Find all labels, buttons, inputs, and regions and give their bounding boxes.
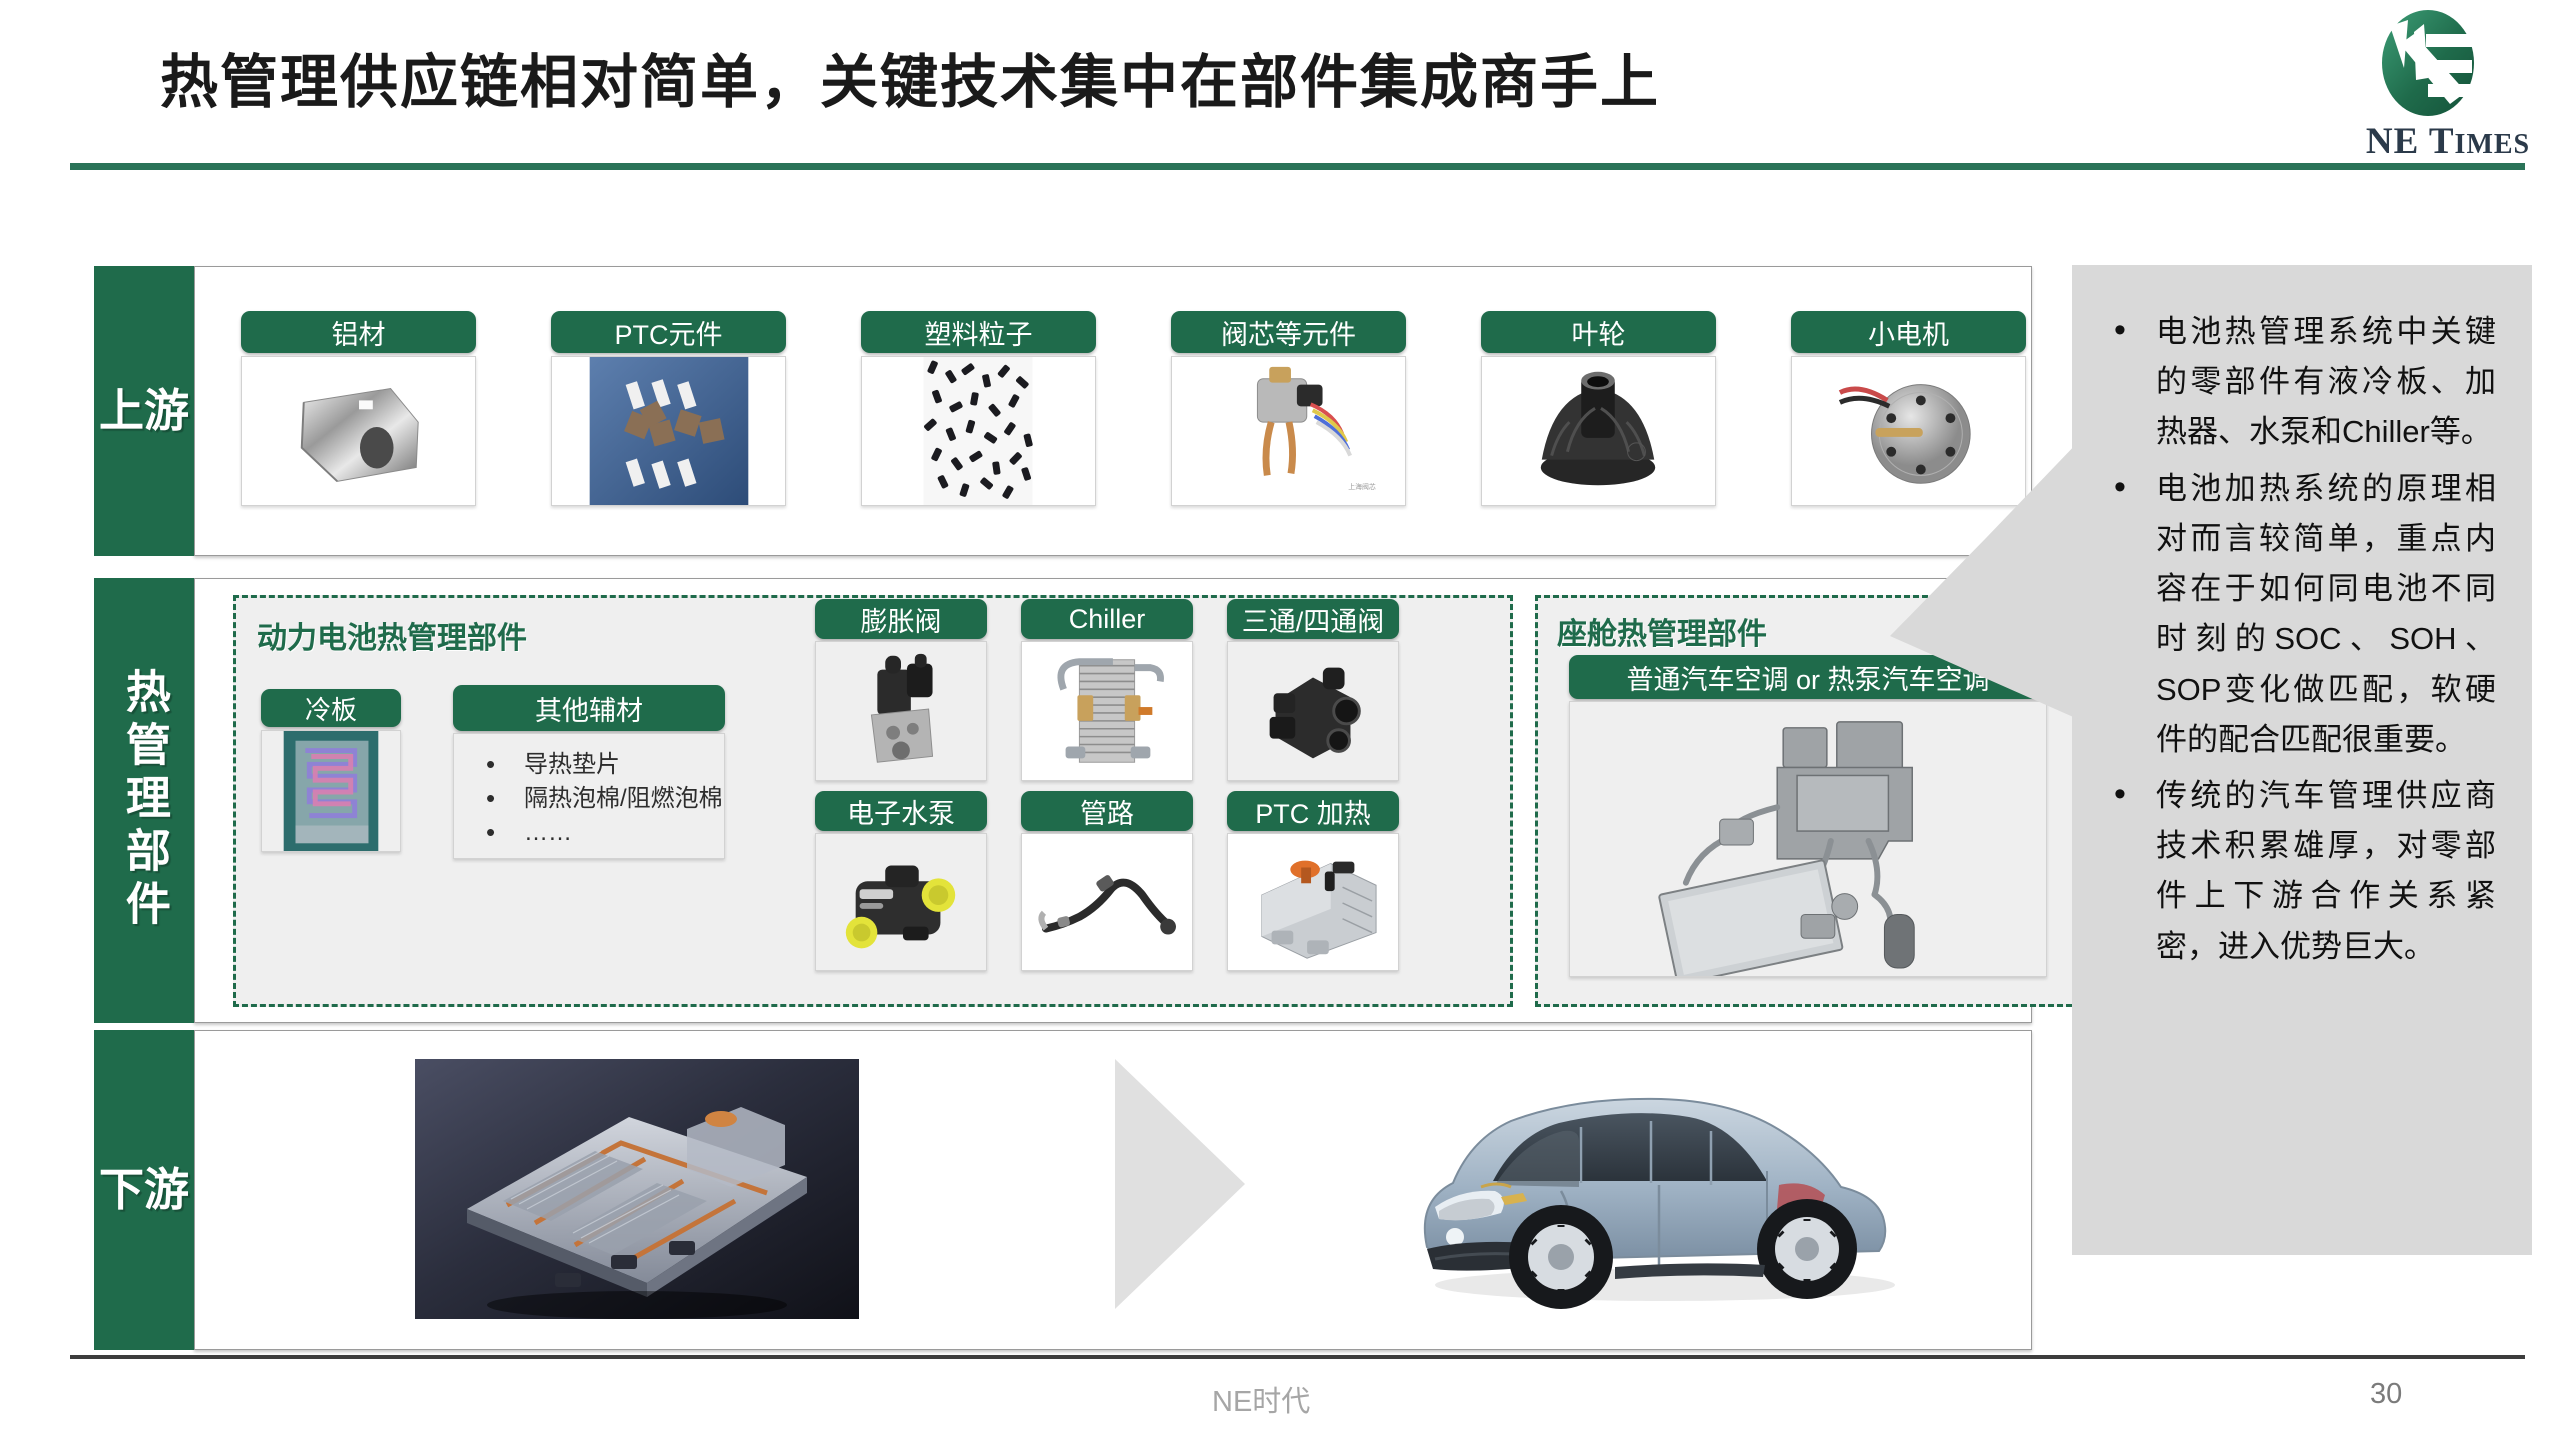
footer-divider bbox=[70, 1355, 2525, 1359]
battery-thermal-group-title: 动力电池热管理部件 bbox=[257, 613, 527, 657]
svg-text:上海阀芯: 上海阀芯 bbox=[1348, 482, 1376, 491]
aux-materials-list: 导热垫片 隔热泡棉/阻燃泡棉 …… bbox=[454, 734, 724, 850]
card-title: 叶轮 bbox=[1481, 311, 1716, 353]
thermal-card-water-pump[interactable]: 电子水泵 bbox=[815, 791, 987, 971]
band-thermal: 热管理部件 动力电池热管理部件 冷板 其他辅材 bbox=[94, 578, 2032, 1023]
card-title: 塑料粒子 bbox=[861, 311, 1096, 353]
multiway-valve-photo bbox=[1227, 641, 1399, 781]
electric-water-pump-photo bbox=[815, 833, 987, 971]
band-label-thermal: 热管理部件 bbox=[94, 578, 194, 1023]
upstream-card-plastic[interactable]: 塑料粒子 bbox=[861, 311, 1096, 506]
thermal-card-chiller[interactable]: Chiller bbox=[1021, 599, 1193, 781]
list-item: 导热垫片 bbox=[480, 748, 724, 782]
upstream-card-aluminum[interactable]: 铝材 bbox=[241, 311, 476, 506]
band-downstream: 下游 bbox=[94, 1030, 2032, 1350]
callout-panel: 电池热管理系统中关键的零部件有液冷板、加热器、水泵和Chiller等。 电池加热… bbox=[2072, 265, 2532, 1255]
thermal-card-ptc-heater[interactable]: PTC 加热 bbox=[1227, 791, 1399, 971]
valve-core-photo: 上海阀芯 bbox=[1171, 356, 1406, 506]
list-item: …… bbox=[480, 816, 724, 850]
ptc-heater-photo bbox=[1227, 833, 1399, 971]
impeller-photo bbox=[1481, 356, 1716, 506]
upstream-card-ptc[interactable]: PTC元件 bbox=[551, 311, 786, 506]
card-title: Chiller bbox=[1021, 599, 1193, 639]
plastic-pellets-photo bbox=[861, 356, 1096, 506]
band-upstream: 上游 铝材 PTC元件 bbox=[94, 266, 2032, 556]
chiller-photo bbox=[1021, 641, 1193, 781]
card-title: 冷板 bbox=[261, 689, 401, 727]
card-title: 电子水泵 bbox=[815, 791, 987, 831]
thermal-card-cold-plate[interactable]: 冷板 bbox=[261, 689, 401, 852]
card-title: 膨胀阀 bbox=[815, 599, 987, 639]
ptc-element-photo bbox=[551, 356, 786, 506]
callout-tail bbox=[1890, 440, 2080, 720]
card-title: 铝材 bbox=[241, 311, 476, 353]
thermal-card-expansion-valve[interactable]: 膨胀阀 bbox=[815, 599, 987, 781]
callout-bullet: 电池热管理系统中关键的零部件有液冷板、加热器、水泵和Chiller等。 bbox=[2094, 307, 2496, 458]
aux-materials-list-body: 导热垫片 隔热泡棉/阻燃泡棉 …… bbox=[453, 733, 725, 859]
brand-logo: NE TIMES bbox=[2348, 8, 2548, 168]
band-label-downstream-text: 下游 bbox=[99, 1164, 189, 1216]
list-item: 隔热泡棉/阻燃泡棉 bbox=[480, 782, 724, 816]
battery-pack-photo bbox=[415, 1059, 859, 1319]
aluminum-coil-photo bbox=[241, 356, 476, 506]
thermal-card-aux-materials[interactable]: 其他辅材 导热垫片 隔热泡棉/阻燃泡棉 …… bbox=[453, 685, 725, 859]
ne-circle-logo-icon bbox=[2370, 8, 2490, 120]
logo-wordmark: NE TIMES bbox=[2348, 120, 2548, 164]
thermal-card-pipeline[interactable]: 管路 bbox=[1021, 791, 1193, 971]
page-title: 热管理供应链相对简单，关键技术集中在部件集成商手上 bbox=[160, 38, 2110, 128]
band-body-thermal: 动力电池热管理部件 冷板 其他辅材 导热垫片 bbox=[194, 578, 2032, 1023]
electric-vehicle-photo bbox=[1375, 1061, 1935, 1317]
title-divider bbox=[70, 163, 2525, 170]
band-label-downstream: 下游 bbox=[94, 1030, 194, 1350]
hvac-assembly-photo bbox=[1569, 701, 2047, 977]
cold-plate-photo bbox=[261, 730, 401, 852]
card-title: 三通/四通阀 bbox=[1227, 599, 1399, 639]
footer-brand: NE时代 bbox=[1212, 1378, 1512, 1420]
pipeline-photo bbox=[1021, 833, 1193, 971]
upstream-card-valve-core[interactable]: 阀芯等元件 上海阀芯 bbox=[1171, 311, 1406, 506]
right-arrow bbox=[1115, 1059, 1245, 1309]
band-label-upstream-text-1: 上游 bbox=[99, 385, 189, 437]
thermal-card-multiway-valve[interactable]: 三通/四通阀 bbox=[1227, 599, 1399, 781]
band-body-downstream bbox=[194, 1030, 2032, 1350]
card-title: 阀芯等元件 bbox=[1171, 311, 1406, 353]
page-number: 30 bbox=[2370, 1378, 2490, 1411]
cabin-thermal-group-title: 座舱热管理部件 bbox=[1557, 609, 1767, 653]
callout-bullet: 电池加热系统的原理相对而言较简单，重点内容在于如何同电池不同时刻的SOC、SOH… bbox=[2094, 464, 2496, 765]
expansion-valve-photo bbox=[815, 641, 987, 781]
card-title: PTC 加热 bbox=[1227, 791, 1399, 831]
band-label-thermal-text: 热管理部件 bbox=[118, 668, 170, 933]
band-label-upstream: 上游 bbox=[94, 266, 194, 556]
card-title: 其他辅材 bbox=[453, 685, 725, 731]
card-title: 管路 bbox=[1021, 791, 1193, 831]
callout-bullet: 传统的汽车管理供应商技术积累雄厚，对零部件上下游合作关系紧密，进入优势巨大。 bbox=[2094, 771, 2496, 972]
card-title: PTC元件 bbox=[551, 311, 786, 353]
card-title: 小电机 bbox=[1791, 311, 2026, 353]
upstream-card-impeller[interactable]: 叶轮 bbox=[1481, 311, 1716, 506]
callout-bullet-list: 电池热管理系统中关键的零部件有液冷板、加热器、水泵和Chiller等。 电池加热… bbox=[2072, 265, 2532, 972]
band-body-upstream: 铝材 PTC元件 bbox=[194, 266, 2032, 556]
